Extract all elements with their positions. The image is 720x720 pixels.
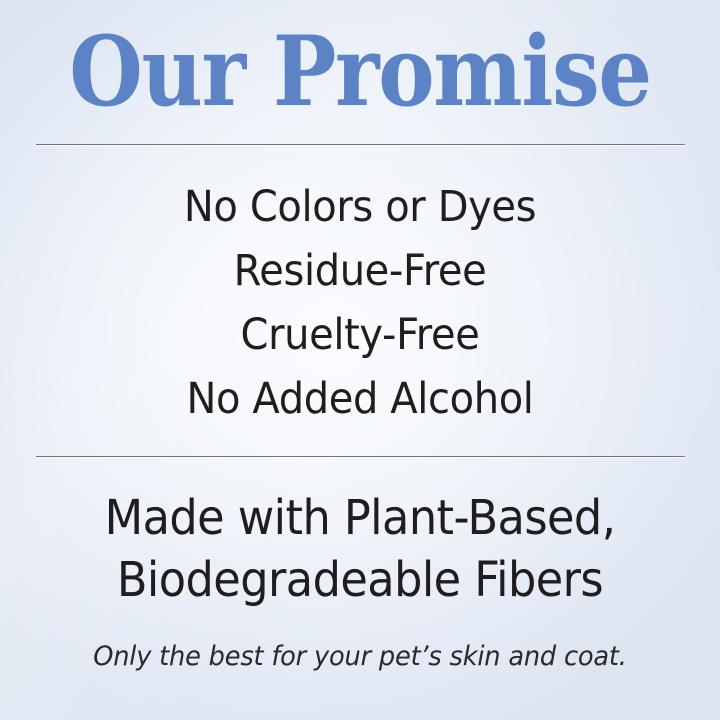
divider-top (36, 144, 685, 145)
title-block: Our Promise (0, 24, 720, 120)
our-promise-panel: Our Promise No Colors or Dyes Residue-Fr… (0, 0, 720, 720)
tagline: Only the best for your pet’s skin and co… (18, 640, 702, 674)
list-item: Residue-Free (25, 239, 695, 303)
materials-line-2: Biodegradeable Fibers (25, 549, 695, 611)
list-item: No Added Alcohol (25, 367, 695, 431)
divider-bottom (36, 456, 685, 457)
materials-block: Made with Plant-Based, Biodegradeable Fi… (0, 487, 720, 611)
materials-line-1: Made with Plant-Based, (25, 487, 695, 549)
page-title: Our Promise (43, 24, 677, 120)
promise-list: No Colors or Dyes Residue-Free Cruelty-F… (0, 175, 720, 431)
list-item: Cruelty-Free (25, 303, 695, 367)
list-item: No Colors or Dyes (25, 175, 695, 239)
